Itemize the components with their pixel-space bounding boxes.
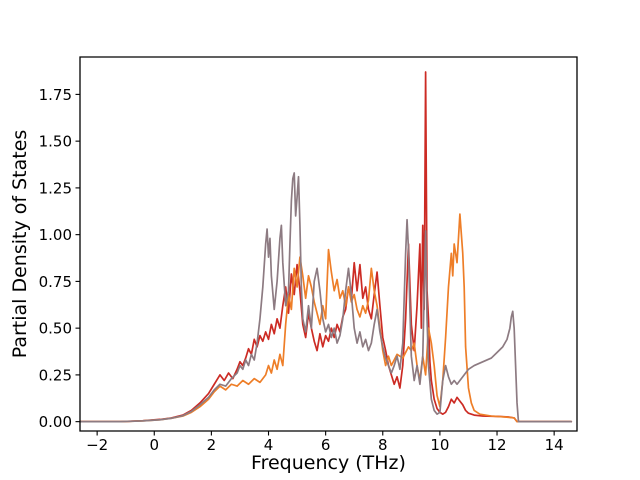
pdos-line-chart: −2024681012140.000.250.500.751.001.251.5… xyxy=(0,0,640,480)
x-tick-label: 14 xyxy=(545,436,564,454)
y-tick-label: 1.25 xyxy=(39,179,72,197)
y-tick-label: 1.50 xyxy=(39,133,72,151)
y-tick-label: 0.25 xyxy=(39,366,72,384)
y-tick-label: 0.50 xyxy=(39,320,72,338)
x-tick-label: 12 xyxy=(487,436,506,454)
matplotlib-figure: −2024681012140.000.250.500.751.001.251.5… xyxy=(0,0,640,480)
y-tick-label: 1.75 xyxy=(39,86,72,104)
y-tick-label: 0.75 xyxy=(39,273,72,291)
axes-background xyxy=(80,57,577,431)
x-tick-label: 10 xyxy=(430,436,449,454)
y-axis-title: Partial Density of States xyxy=(9,130,31,359)
y-tick-label: 1.00 xyxy=(39,226,72,244)
x-axis-title: Frequency (THz) xyxy=(251,452,406,474)
x-tick-label: 2 xyxy=(207,436,217,454)
y-tick-label: 0.00 xyxy=(39,413,72,431)
x-tick-label: −2 xyxy=(86,436,108,454)
x-tick-label: 0 xyxy=(149,436,159,454)
